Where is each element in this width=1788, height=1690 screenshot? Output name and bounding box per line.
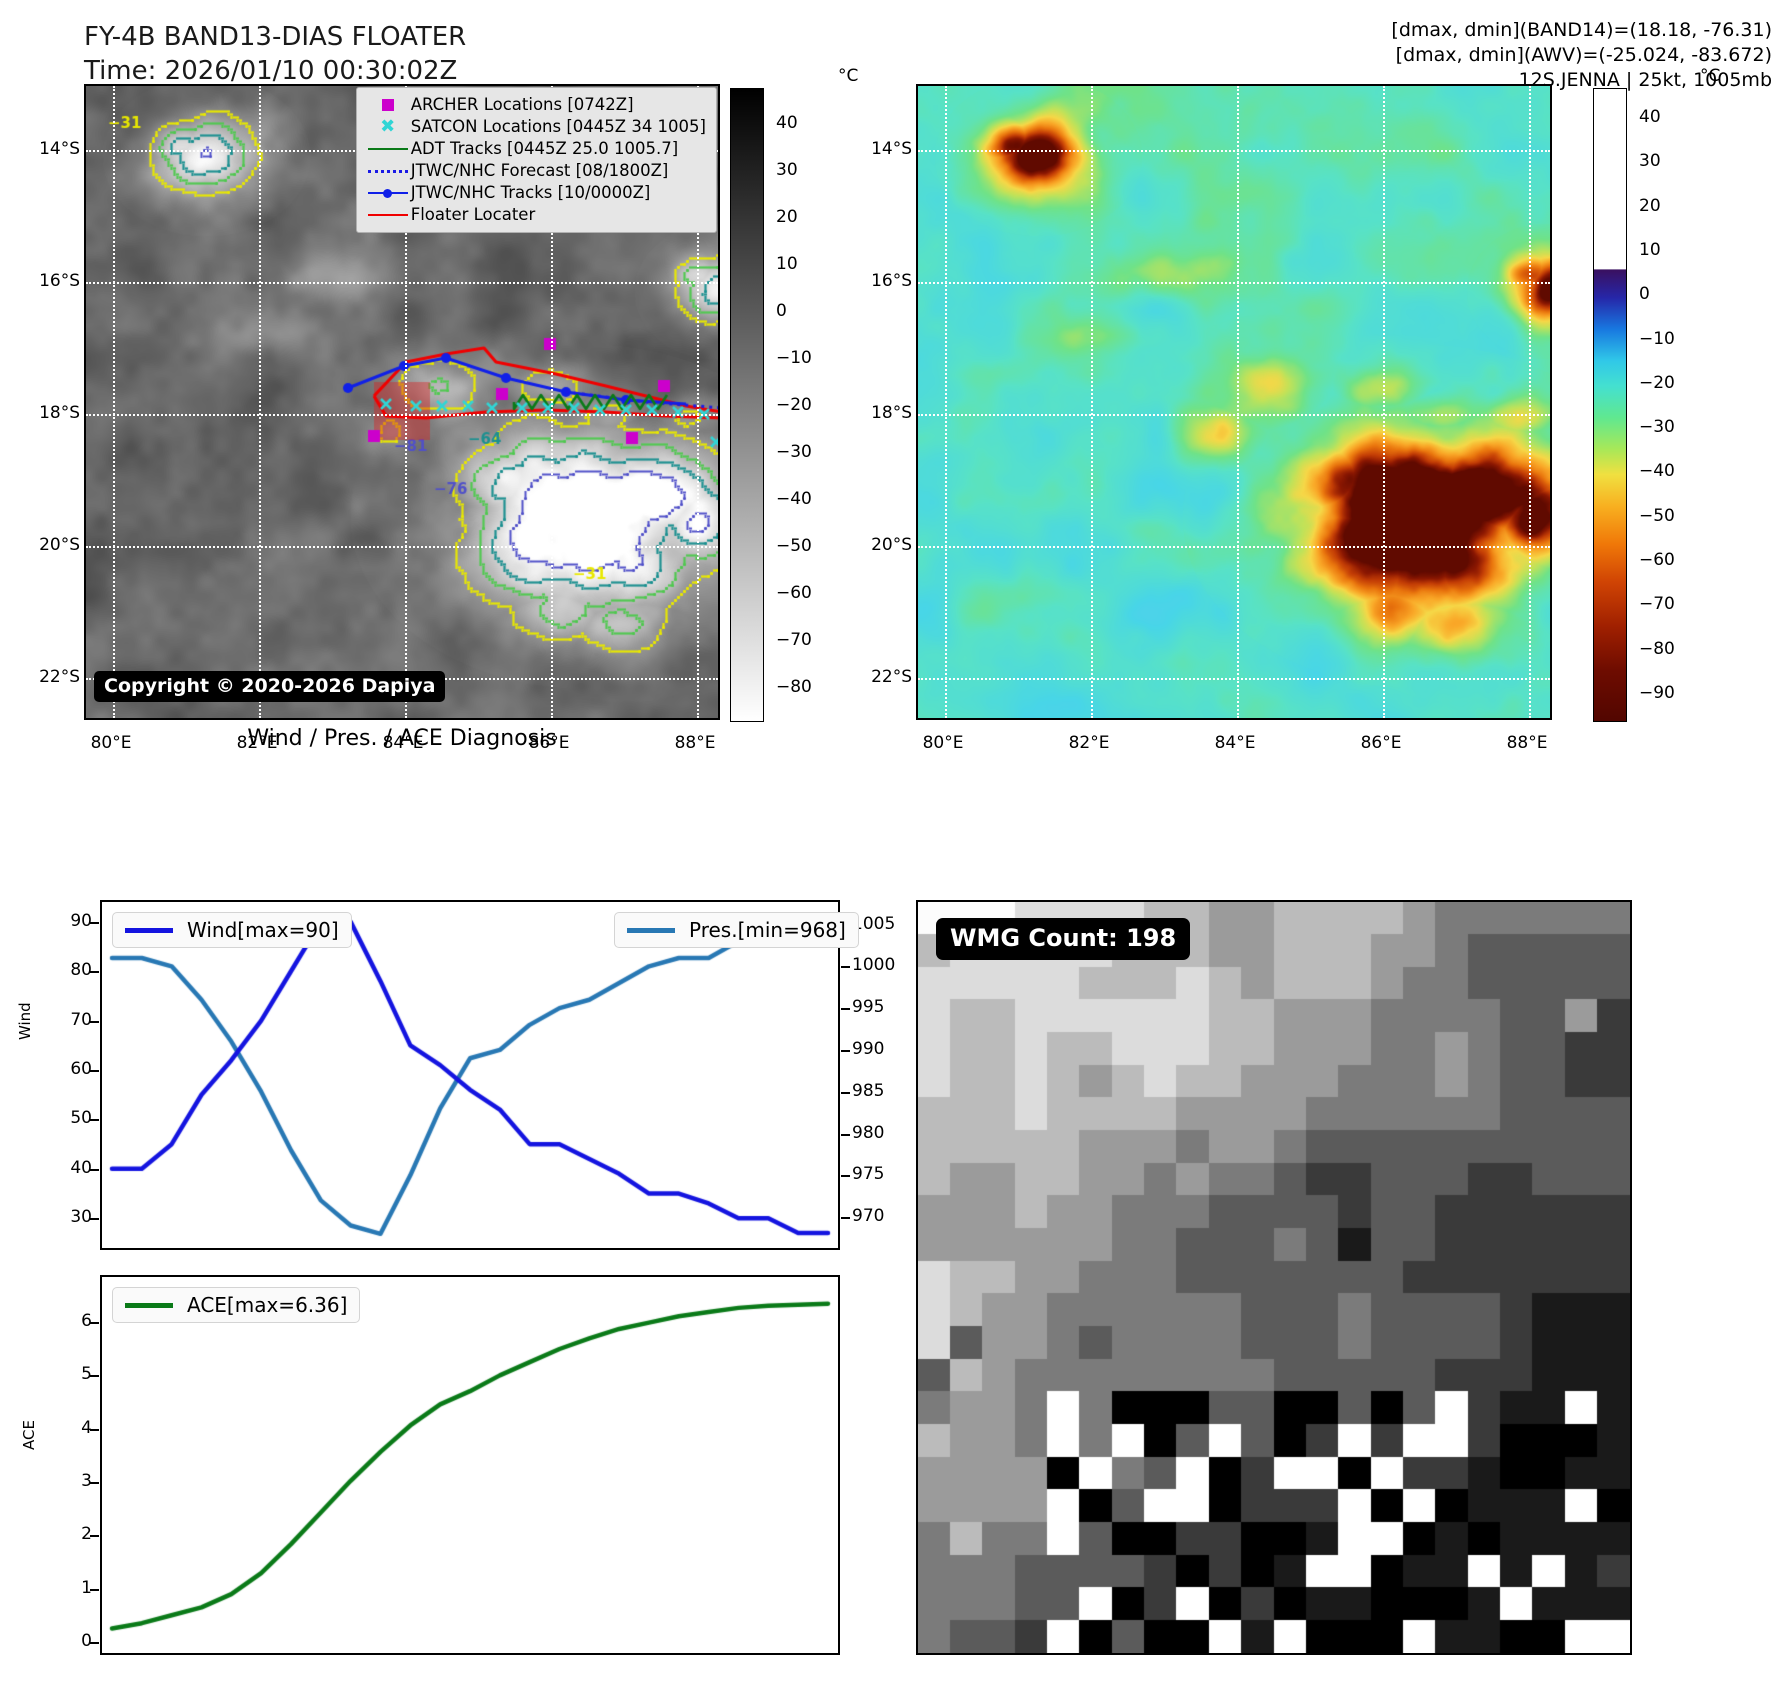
axis-tick-label: 3 [32, 1471, 92, 1491]
axis-tick-label: 970 [852, 1206, 922, 1226]
colorbar-tick: −70 [776, 630, 812, 650]
red-line-icon [365, 214, 411, 216]
wind-pressure-plot [102, 902, 838, 1248]
awv-satellite-panel[interactable] [916, 84, 1552, 720]
wind-line-icon [125, 928, 173, 933]
legend-label-satcon: SATCON Locations [0445Z 34 1005] [411, 116, 706, 138]
wind-legend[interactable]: Wind[max=90] [112, 912, 352, 948]
blue-dotted-line-icon [365, 170, 411, 173]
legend-label-forecast: JTWC/NHC Forecast [08/1800Z] [411, 160, 669, 182]
colorbar-tick: −40 [776, 489, 812, 509]
ir-colorbar-unit: °C [838, 66, 858, 86]
axis-tick-mark [90, 1375, 99, 1377]
wind-pressure-chart[interactable] [100, 900, 840, 1250]
ir-gridline-lat-16 [86, 282, 718, 284]
axis-tick-label: 975 [852, 1164, 922, 1184]
ir-legend[interactable]: ARCHER Locations [0742Z] ✖ SATCON Locati… [356, 87, 717, 233]
axis-tick-mark [90, 1429, 99, 1431]
colorbar-tick: 20 [776, 207, 798, 227]
axis-tick-mark [841, 966, 850, 968]
awv-colorbar-unit: °C [1700, 66, 1720, 86]
axis-tick-mark [90, 1589, 99, 1591]
axis-tick-mark [841, 1217, 850, 1219]
magenta-square-icon [365, 99, 411, 111]
awv-lon-label-84e: 84°E [1200, 733, 1270, 753]
legend-label-tracks: JTWC/NHC Tracks [10/0000Z] [411, 182, 651, 204]
ace-legend[interactable]: ACE[max=6.36] [112, 1287, 360, 1323]
axis-tick-label: 1000 [852, 955, 922, 975]
colorbar-tick: 40 [1639, 107, 1661, 127]
colorbar-tick: −30 [776, 442, 812, 462]
colorbar-tick: 40 [776, 113, 798, 133]
axis-tick-label: 50 [32, 1108, 92, 1128]
awv-lat-label-18s: 18°S [842, 403, 912, 423]
colorbar-tick: −60 [1639, 550, 1675, 570]
axis-tick-label: 1 [32, 1578, 92, 1598]
colorbar-tick: −40 [1639, 461, 1675, 481]
wmg-panel[interactable]: WMG Count: 198 [916, 900, 1632, 1655]
axis-tick-mark [90, 1070, 99, 1072]
wind-legend-label: Wind[max=90] [187, 918, 339, 942]
colorbar-tick: 30 [776, 160, 798, 180]
colorbar-tick: −80 [776, 677, 812, 697]
ace-plot [102, 1277, 838, 1653]
dmax-dmin-awv: [dmax, dmin](AWV)=(-25.024, -83.672) [1396, 44, 1772, 66]
legend-item-archer[interactable]: ARCHER Locations [0742Z] [365, 94, 706, 116]
legend-item-satcon[interactable]: ✖ SATCON Locations [0445Z 34 1005] [365, 116, 706, 138]
axis-tick-mark [90, 1642, 99, 1644]
axis-tick-mark [841, 1050, 850, 1052]
awv-lon-label-80e: 80°E [908, 733, 978, 753]
awv-colorbar [1593, 88, 1627, 722]
axis-tick-label: 985 [852, 1081, 922, 1101]
ir-satellite-panel[interactable]: ARCHER Locations [0742Z] ✖ SATCON Locati… [84, 84, 720, 720]
colorbar-tick: −30 [1639, 417, 1675, 437]
axis-tick-label: 6 [32, 1311, 92, 1331]
colorbar-tick: 10 [1639, 240, 1661, 260]
legend-item-floater[interactable]: Floater Locater [365, 204, 706, 226]
axis-tick-label: 4 [32, 1418, 92, 1438]
legend-label-floater: Floater Locater [411, 204, 536, 226]
ace-legend-label: ACE[max=6.36] [187, 1293, 347, 1317]
blue-line-dot-icon [365, 192, 411, 194]
pressure-legend[interactable]: Pres.[min=968] [614, 912, 859, 948]
axis-tick-label: 990 [852, 1039, 922, 1059]
axis-tick-label: 90 [32, 911, 92, 931]
ir-lat-label-18s: 18°S [10, 403, 80, 423]
awv-gridline-lon-80 [945, 86, 947, 718]
wmg-count-badge: WMG Count: 198 [936, 918, 1190, 960]
axis-tick-mark [841, 1008, 850, 1010]
dmax-dmin-band14: [dmax, dmin](BAND14)=(18.18, -76.31) [1391, 19, 1772, 41]
axis-tick-mark [90, 1119, 99, 1121]
ace-line-icon [125, 1303, 173, 1308]
axis-tick-label: 980 [852, 1123, 922, 1143]
axis-tick-label: 60 [32, 1059, 92, 1079]
colorbar-tick: −50 [776, 536, 812, 556]
awv-lat-label-20s: 20°S [842, 535, 912, 555]
awv-lat-label-14s: 14°S [842, 139, 912, 159]
axis-tick-label: 2 [32, 1524, 92, 1544]
awv-lon-label-86e: 86°E [1346, 733, 1416, 753]
legend-label-archer: ARCHER Locations [0742Z] [411, 94, 634, 116]
axis-tick-label: 30 [32, 1207, 92, 1227]
colorbar-tick: −10 [776, 348, 812, 368]
awv-gridline-lat-20 [918, 546, 1550, 548]
axis-tick-label: 70 [32, 1010, 92, 1030]
colorbar-tick: −60 [776, 583, 812, 603]
awv-gridline-lat-16 [918, 282, 1550, 284]
awv-gridline-lon-82 [1091, 86, 1093, 718]
axis-tick-mark [841, 1092, 850, 1094]
colorbar-tick: −20 [776, 395, 812, 415]
ir-lat-label-22s: 22°S [10, 667, 80, 687]
pressure-line-icon [627, 928, 675, 933]
axis-tick-label: 995 [852, 997, 922, 1017]
title-line-1: FY-4B BAND13-DIAS FLOATER [84, 22, 466, 52]
axis-tick-mark [90, 971, 99, 973]
legend-item-tracks[interactable]: JTWC/NHC Tracks [10/0000Z] [365, 182, 706, 204]
awv-gridline-lat-14 [918, 150, 1550, 152]
axis-tick-label: 0 [32, 1631, 92, 1651]
awv-imagery [918, 86, 1552, 720]
axis-tick-mark [841, 1134, 850, 1136]
colorbar-tick: −20 [1639, 373, 1675, 393]
colorbar-tick: 0 [776, 301, 787, 321]
legend-item-forecast[interactable]: JTWC/NHC Forecast [08/1800Z] [365, 160, 706, 182]
colorbar-tick: 0 [1639, 284, 1650, 304]
ir-gridline-lon-80 [113, 86, 115, 718]
axis-tick-label: 5 [32, 1364, 92, 1384]
colorbar-tick: −10 [1639, 329, 1675, 349]
axis-tick-mark [90, 1218, 99, 1220]
awv-lon-label-82e: 82°E [1054, 733, 1124, 753]
awv-gridline-lon-86 [1383, 86, 1385, 718]
colorbar-tick: 20 [1639, 196, 1661, 216]
wmg-imagery [918, 902, 1630, 1653]
colorbar-tick: −80 [1639, 639, 1675, 659]
awv-lat-label-22s: 22°S [842, 667, 912, 687]
colorbar-tick: −50 [1639, 506, 1675, 526]
axis-tick-mark [90, 922, 99, 924]
axis-tick-label: 40 [32, 1158, 92, 1178]
ir-lat-label-16s: 16°S [10, 271, 80, 291]
ir-lat-label-14s: 14°S [10, 139, 80, 159]
awv-gridline-lon-88 [1529, 86, 1531, 718]
storm-identifier: 12S.JENNA | 25kt, 1005mb [1519, 69, 1772, 91]
colorbar-tick: −90 [1639, 683, 1675, 703]
axis-tick-mark [90, 1021, 99, 1023]
colorbar-tick: −70 [1639, 594, 1675, 614]
colorbar-tick: 10 [776, 254, 798, 274]
copyright-badge: Copyright © 2020-2026 Dapiya [94, 671, 445, 702]
awv-gridline-lat-22 [918, 678, 1550, 680]
ir-lat-label-20s: 20°S [10, 535, 80, 555]
diagnosis-title: Wind / Pres. / ACE Diagnosis [84, 726, 720, 751]
axis-tick-label: 80 [32, 960, 92, 980]
axis-tick-mark [90, 1322, 99, 1324]
awv-gridline-lat-18 [918, 414, 1550, 416]
axis-tick-mark [90, 1482, 99, 1484]
green-line-icon [365, 148, 411, 150]
axis-tick-mark [90, 1169, 99, 1171]
pressure-legend-label: Pres.[min=968] [689, 918, 846, 942]
ace-chart[interactable] [100, 1275, 840, 1655]
legend-label-adt: ADT Tracks [0445Z 25.0 1005.7] [411, 138, 678, 160]
ir-gridline-lat-20 [86, 546, 718, 548]
colorbar-tick: 30 [1639, 151, 1661, 171]
axis-tick-mark [90, 1535, 99, 1537]
ir-gridline-lon-82 [259, 86, 261, 718]
awv-gridline-lon-84 [1237, 86, 1239, 718]
title-line-2: Time: 2026/01/10 00:30:02Z [84, 56, 457, 86]
axis-tick-label: 1005 [852, 914, 922, 934]
legend-item-adt[interactable]: ADT Tracks [0445Z 25.0 1005.7] [365, 138, 706, 160]
axis-tick-mark [841, 1175, 850, 1177]
ir-colorbar [730, 88, 764, 722]
cyan-x-icon: ✖ [365, 118, 411, 136]
page-title: FY-4B BAND13-DIAS FLOATERTime: 2026/01/1… [84, 20, 466, 88]
ir-gridline-lat-18 [86, 414, 718, 416]
awv-lat-label-16s: 16°S [842, 271, 912, 291]
awv-lon-label-88e: 88°E [1492, 733, 1562, 753]
